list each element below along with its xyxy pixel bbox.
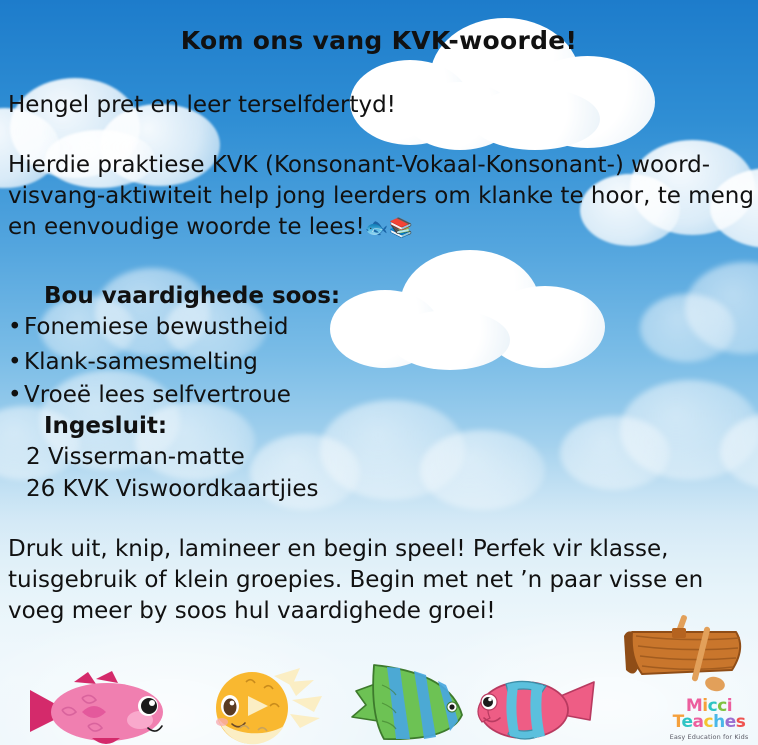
bullet-glyph: • [8, 349, 24, 375]
cloud-mid-right [640, 262, 758, 362]
included-item: 2 Visserman-matte [26, 444, 245, 470]
bullet-glyph: • [8, 382, 24, 408]
included-heading: Ingesluit: [44, 413, 167, 439]
fish-book-emoji: 🐟📚 [365, 217, 414, 239]
pink-fish-illustration [22, 668, 172, 745]
logo-letter: h [713, 712, 725, 732]
cloud-mid-center [330, 250, 610, 370]
list-item-label: Fonemiese bewustheid [24, 314, 288, 340]
list-item: •Fonemiese bewustheid [8, 314, 288, 340]
logo-tagline: Easy Education for Kids [666, 733, 752, 741]
bullet-glyph: • [8, 314, 24, 340]
yellow-pufferfish-illustration [196, 666, 326, 745]
brand-logo: Micci Teaches Easy Education for Kids [666, 698, 752, 741]
included-item: 26 KVK Viswoordkaartjies [26, 476, 319, 502]
list-item-label: Vroeë lees selfvertroue [24, 382, 291, 408]
lead-line: Hengel pret en leer terselfdertyd! [8, 92, 396, 118]
rowing-boat-illustration [614, 612, 750, 696]
green-blue-angelfish-illustration [340, 655, 480, 745]
poster-canvas: Kom ons vang KVK-woorde! Hengel pret en … [0, 0, 758, 745]
pink-blue-striped-fish-illustration [462, 672, 602, 745]
logo-letter: c [704, 712, 714, 732]
list-item-label: Klank-samesmelting [24, 349, 258, 375]
skills-heading: Bou vaardighede soos: [44, 283, 340, 309]
logo-letter: e [681, 712, 692, 732]
page-title: Kom ons vang KVK-woorde! [0, 26, 758, 55]
intro-paragraph: Hierdie praktiese KVK (Konsonant-Vokaal-… [8, 150, 758, 244]
logo-line-teaches: Teaches [666, 714, 752, 731]
list-item: •Vroeë lees selfvertroue [8, 382, 291, 408]
logo-letter: a [693, 712, 704, 732]
list-item: •Klank-samesmelting [8, 349, 258, 375]
logo-letter: e [725, 712, 736, 732]
logo-letter: s [736, 712, 746, 732]
